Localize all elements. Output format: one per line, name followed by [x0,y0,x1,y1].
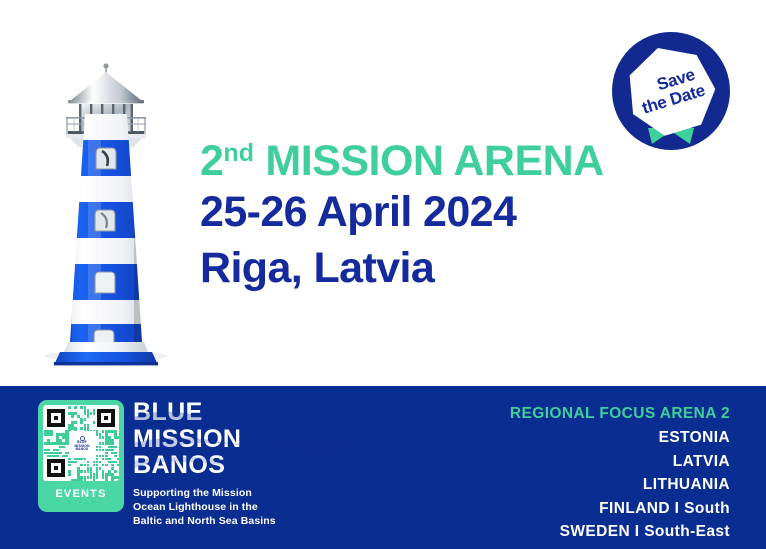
tagline-line-3: Baltic and North Sea Basins [133,514,363,528]
event-title: 2nd MISSION ARENA [200,140,630,184]
qr-finder-bottom-left [47,459,65,477]
regional-focus-country: SWEDEN I South-East [510,520,730,544]
qr-events-label: EVENTS [43,481,119,507]
qr-events-text: EVENTS [55,488,106,500]
regional-focus-country: LITHUANIA [510,473,730,497]
qr-module [68,473,71,476]
tagline-line-2: Ocean Lighthouse in the [133,500,363,514]
event-ordinal-suffix: nd [223,139,254,167]
qr-code-block[interactable]: BLUE MISSION BANOS EVENTS [38,400,124,512]
qr-module [105,479,108,481]
qr-module [105,464,108,467]
event-name: MISSION ARENA [254,137,604,185]
qr-module [74,421,77,424]
poster-canvas: 2nd MISSION ARENA 25-26 April 2024 Riga,… [0,0,766,549]
qr-finder-top-left [47,409,65,427]
qr-module [74,461,77,464]
brand-logo-line-3: BANOS [133,452,363,479]
event-location: Riga, Latvia [200,241,630,296]
event-number: 2 [200,137,223,185]
hero-section: 2nd MISSION ARENA 25-26 April 2024 Riga,… [0,0,766,386]
regional-focus-country: FINLAND I South [510,497,730,521]
save-the-date-badge-shape [612,32,730,150]
brand-logo-line-1: BLUE [133,399,363,426]
qr-module [84,479,87,481]
regional-focus-block: REGIONAL FOCUS ARENA 2 ESTONIALATVIALITH… [510,402,730,544]
qr-module [114,446,117,449]
qr-finder-top-right [97,409,115,427]
qr-module [111,479,114,481]
brand-logo: BLUE MISSION BANOS Supporting the Missio… [133,399,363,528]
qr-module [62,446,65,449]
footer-band: BLUE MISSION BANOS EVENTS BLUE MISSION B… [0,386,766,549]
regional-focus-country: ESTONIA [510,426,730,450]
regional-focus-country: LATVIA [510,450,730,474]
qr-module [71,415,74,418]
qr-module [114,470,117,473]
qr-module [68,406,71,409]
event-dates: 25-26 April 2024 [200,184,630,241]
brand-logo-line-2: MISSION [133,426,363,453]
qr-code-image[interactable]: BLUE MISSION BANOS [43,405,119,481]
qr-module [74,406,77,409]
qr-module [87,415,90,418]
qr-module [93,412,96,415]
save-the-date-badge: Save the Date [612,32,730,150]
regional-focus-list: ESTONIALATVIALITHUANIAFINLAND I SouthSWE… [510,426,730,544]
title-block: 2nd MISSION ARENA 25-26 April 2024 Riga,… [200,140,630,296]
qr-module [117,476,119,479]
qr-module [117,458,119,461]
qr-module [68,464,71,467]
qr-module [93,479,96,481]
qr-module [93,421,96,424]
lighthouse-illustration [38,52,174,370]
qr-module [56,455,59,458]
brand-tagline: Supporting the Mission Ocean Lighthouse … [133,486,363,529]
tagline-line-1: Supporting the Mission [133,486,363,500]
qr-module [117,436,119,439]
qr-center-logo: BLUE MISSION BANOS [69,431,95,457]
qr-logo-line-3: BANOS [76,448,89,451]
qr-module [117,464,119,467]
lighthouse-svg [38,52,174,370]
qr-module [84,418,87,421]
qr-module [50,433,53,436]
qr-module [96,476,99,479]
regional-focus-heading: REGIONAL FOCUS ARENA 2 [510,402,730,426]
